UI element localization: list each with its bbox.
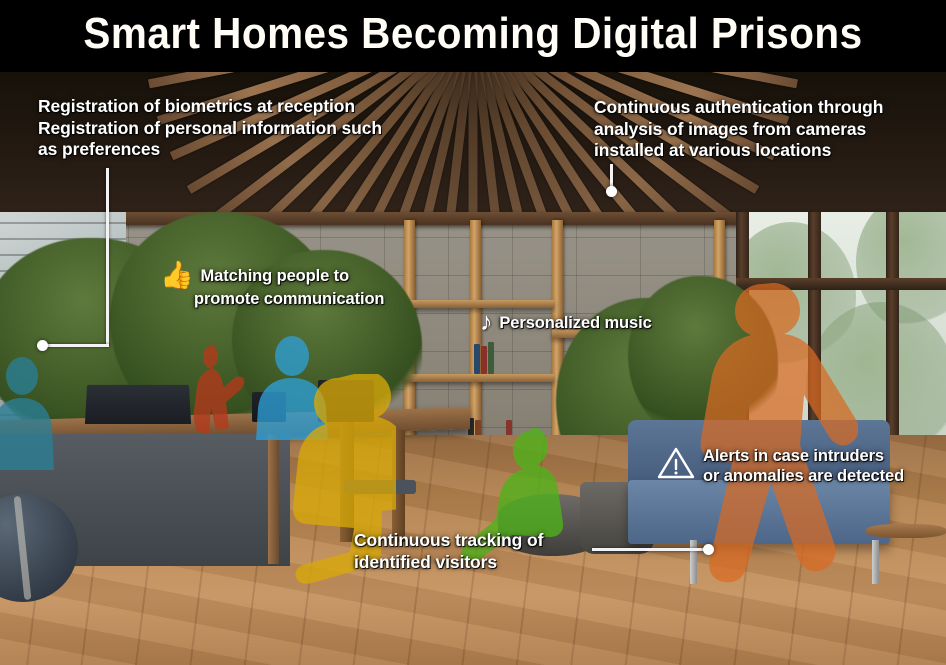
callout-line: analysis of images from cameras <box>594 119 883 141</box>
music-note-icon: ♪ <box>480 310 492 335</box>
leader-dot-authentication <box>606 186 617 197</box>
callout-biometrics-registration: Registration of biometrics at reception … <box>38 96 382 161</box>
warning-triangle-icon <box>656 446 696 480</box>
shelf-book <box>481 346 487 374</box>
callout-line: installed at various locations <box>594 140 883 162</box>
side-table <box>866 524 946 538</box>
callout-personalized-music: ♪ Personalized music <box>480 310 652 335</box>
callout-matching-people: 👍 Matching people to promote communicati… <box>160 262 384 309</box>
figure-red-standing <box>186 338 260 434</box>
shelf-board <box>404 374 554 382</box>
callout-intruder-alerts: Alerts in case intruders or anomalies ar… <box>656 446 904 486</box>
callout-line: or anomalies are detected <box>703 466 904 486</box>
sofa-leg <box>872 540 879 584</box>
page-title: Smart Homes Becoming Digital Prisons <box>38 8 908 60</box>
callout-line: Matching people to <box>201 266 350 286</box>
callout-line: Alerts in case intruders <box>703 446 904 466</box>
callout-visitor-tracking: Continuous tracking of identified visito… <box>354 530 543 573</box>
shelf-book <box>474 344 480 374</box>
shelf-book <box>488 342 494 374</box>
figure-teal-left <box>0 354 58 470</box>
callout-line: Personalized music <box>499 313 651 333</box>
leader-line-biometrics-vertical <box>106 168 109 346</box>
infographic-root: Smart Homes Becoming Digital Prisons <box>0 0 946 665</box>
laptop <box>85 385 191 424</box>
leader-line-tracking <box>592 548 710 551</box>
leader-dot-biometrics <box>37 340 48 351</box>
callout-line: Registration of biometrics at reception <box>38 96 382 118</box>
callout-line: as preferences <box>38 139 382 161</box>
callout-line: promote communication <box>194 289 384 309</box>
leader-line-biometrics-horizontal <box>44 344 109 347</box>
thumbs-up-icon: 👍 <box>160 262 194 289</box>
callout-line: Continuous authentication through <box>594 97 883 119</box>
callout-continuous-authentication: Continuous authentication through analys… <box>594 97 883 162</box>
callout-line: Continuous tracking of <box>354 530 543 552</box>
leader-dot-tracking <box>703 544 714 555</box>
callout-line: Registration of personal information suc… <box>38 118 382 140</box>
title-bar: Smart Homes Becoming Digital Prisons <box>0 0 946 72</box>
callout-line: identified visitors <box>354 552 543 574</box>
shelf-board <box>404 300 554 308</box>
